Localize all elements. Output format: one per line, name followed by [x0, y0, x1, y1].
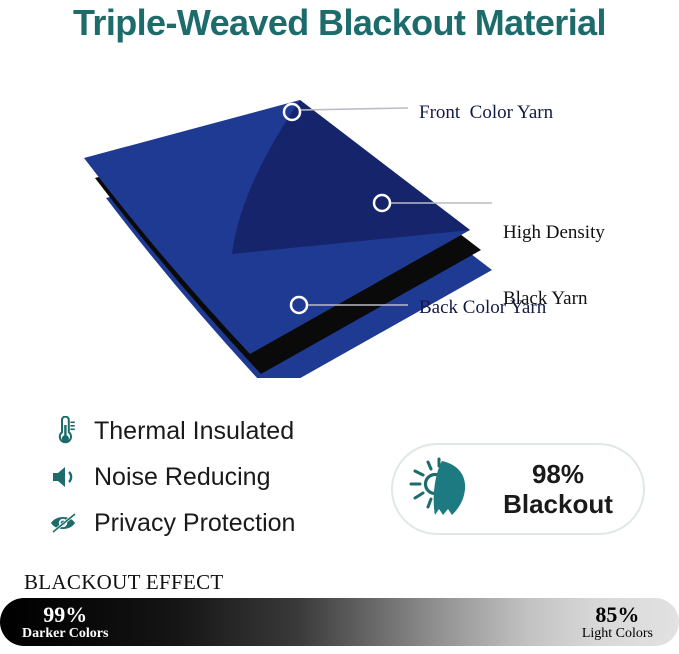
feature-list: Thermal Insulated Noise Reducing Privacy… — [48, 408, 368, 546]
feature-item-noise: Noise Reducing — [48, 454, 368, 500]
badge-percent: 98% — [532, 459, 584, 489]
label-line-1: High Density — [503, 222, 605, 244]
blackout-effect-heading: BLACKOUT EFFECT — [24, 570, 224, 595]
blackout-effect-bar: 99% Darker Colors 85% Light Colors — [0, 598, 679, 646]
blackout-badge: 98% Blackout — [391, 443, 645, 535]
feature-label: Noise Reducing — [94, 463, 271, 492]
sun-blocked-by-shade-icon — [407, 456, 481, 522]
speaker-sound-icon — [48, 460, 82, 494]
feature-item-privacy: Privacy Protection — [48, 500, 368, 546]
bar-right-label: Light Colors — [582, 627, 653, 642]
feature-item-thermal: Thermal Insulated — [48, 408, 368, 454]
feature-label: Privacy Protection — [94, 509, 295, 538]
label-back-color-yarn: Back Color Yarn — [419, 297, 546, 319]
callout-line-front — [301, 108, 408, 110]
badge-label: Blackout — [503, 489, 613, 519]
label-front-color-yarn: Front Color Yarn — [419, 102, 553, 124]
feature-label: Thermal Insulated — [94, 417, 294, 446]
bar-left-percent: 99% — [22, 603, 108, 626]
eye-slash-icon — [48, 506, 82, 540]
bar-left-readout: 99% Darker Colors — [22, 603, 108, 642]
bar-left-label: Darker Colors — [22, 627, 108, 642]
thermometer-icon — [48, 414, 82, 448]
page-title: Triple-Weaved Blackout Material — [0, 2, 679, 44]
bar-right-readout: 85% Light Colors — [582, 603, 653, 642]
bar-right-percent: 85% — [582, 603, 653, 626]
badge-text: 98% Blackout — [481, 459, 643, 519]
